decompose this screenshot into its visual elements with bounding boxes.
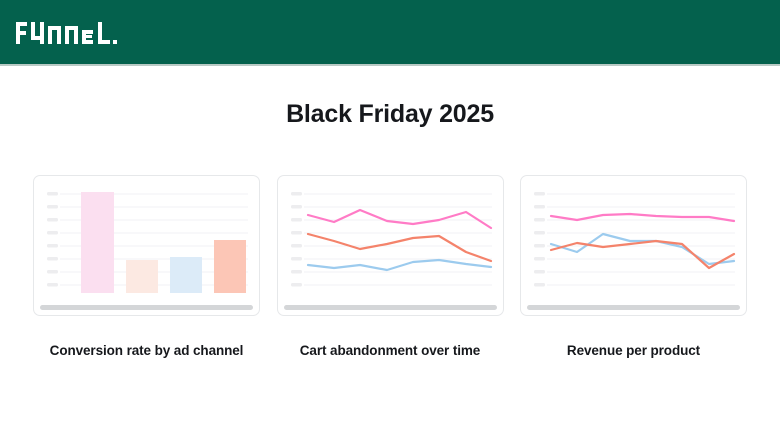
- line-series-blue: [308, 260, 491, 270]
- horizontal-scrollbar[interactable]: [40, 305, 253, 310]
- bar-2: [126, 260, 158, 293]
- chart-caption: Revenue per product: [520, 343, 747, 359]
- chart-block-revenue-per-product: Revenue per product: [520, 175, 747, 359]
- chart-caption: Conversion rate by ad channel: [33, 343, 260, 359]
- header-divider: [0, 64, 780, 66]
- chart-card[interactable]: [33, 175, 260, 316]
- line-series-coral: [308, 234, 491, 261]
- bar-1: [81, 192, 114, 293]
- slide-canvas: Black Friday 2025: [0, 0, 780, 446]
- horizontal-scrollbar[interactable]: [284, 305, 497, 310]
- bar-3: [170, 257, 202, 293]
- chart-card[interactable]: [520, 175, 747, 316]
- horizontal-scrollbar[interactable]: [527, 305, 740, 310]
- charts-row: Conversion rate by ad channel: [33, 175, 747, 359]
- line-chart-cart-abandonment: [278, 176, 504, 307]
- bar-chart-conversion-rate: [34, 176, 260, 307]
- line-series-pink: [308, 210, 491, 228]
- funnel-logo[interactable]: [16, 22, 128, 44]
- chart-card[interactable]: [277, 175, 504, 316]
- chart-caption: Cart abandonment over time: [277, 343, 504, 359]
- app-header: [0, 0, 780, 64]
- chart-block-conversion-rate: Conversion rate by ad channel: [33, 175, 260, 359]
- page-title: Black Friday 2025: [0, 100, 780, 129]
- bar-4: [214, 240, 246, 293]
- line-chart-revenue-per-product: [521, 176, 747, 307]
- line-series-coral: [551, 241, 734, 268]
- chart-block-cart-abandonment: Cart abandonment over time: [277, 175, 504, 359]
